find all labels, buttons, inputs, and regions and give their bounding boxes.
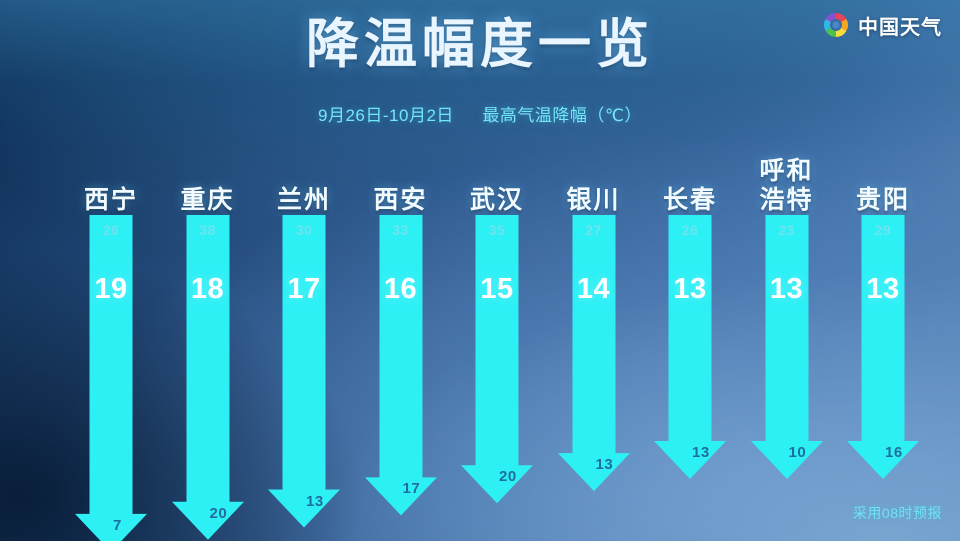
arrow-长春 xyxy=(642,215,738,479)
arrow-glyph-武汉 xyxy=(449,215,545,503)
city-label-西安: 西安 xyxy=(353,186,449,215)
value-after-贵阳: 16 xyxy=(885,444,903,461)
city-label-武汉: 武汉 xyxy=(449,186,545,215)
arrow-glyph-银川 xyxy=(546,215,642,491)
value-drop-重庆: 18 xyxy=(160,273,256,306)
arrow-西宁 xyxy=(63,215,159,541)
value-before-西安: 33 xyxy=(353,222,449,238)
city-label-贵阳: 贵阳 xyxy=(835,186,931,215)
city-label-呼和浩特: 呼和 浩特 xyxy=(739,157,835,215)
arrow-银川 xyxy=(546,215,642,491)
arrow-贵阳 xyxy=(835,215,931,479)
value-after-西宁: 7 xyxy=(113,517,122,534)
chart-column-西安: 西安331617 xyxy=(353,0,449,541)
arrow-glyph-兰州 xyxy=(256,215,352,528)
value-before-贵阳: 29 xyxy=(835,222,931,238)
arrow-武汉 xyxy=(449,215,545,503)
chart-column-长春: 长春261313 xyxy=(642,0,738,541)
chart-column-重庆: 重庆381820 xyxy=(160,0,256,541)
descent-arrow-chart: 西宁26197重庆381820兰州301713西安331617武汉351520银… xyxy=(0,0,960,541)
value-drop-西宁: 19 xyxy=(63,273,159,306)
page-title: 降温幅度一览 xyxy=(0,14,960,76)
value-before-兰州: 30 xyxy=(256,222,352,238)
city-label-重庆: 重庆 xyxy=(160,186,256,215)
chart-column-西宁: 西宁26197 xyxy=(63,0,159,541)
value-drop-武汉: 15 xyxy=(449,273,545,306)
value-after-武汉: 20 xyxy=(499,468,517,485)
subtitle-metric: 最高气温降幅（℃） xyxy=(482,106,642,125)
subtitle-date-range: 9月26日-10月2日 xyxy=(318,106,454,125)
city-label-西宁: 西宁 xyxy=(63,186,159,215)
footnote-label: 采用08时预报 xyxy=(853,503,942,523)
value-drop-长春: 13 xyxy=(642,273,738,306)
pinwheel-logo-icon xyxy=(821,10,851,40)
arrow-呼和浩特 xyxy=(739,215,835,479)
value-after-西安: 17 xyxy=(403,480,421,497)
chart-column-兰州: 兰州301713 xyxy=(256,0,352,541)
chart-column-贵阳: 贵阳291316 xyxy=(835,0,931,541)
value-before-长春: 26 xyxy=(642,222,738,238)
chart-column-呼和浩特: 呼和 浩特231310 xyxy=(739,0,835,541)
chart-column-银川: 银川271413 xyxy=(546,0,642,541)
value-after-重庆: 20 xyxy=(210,505,228,522)
arrow-glyph-长春 xyxy=(642,215,738,479)
city-label-银川: 银川 xyxy=(546,186,642,215)
chart-column-武汉: 武汉351520 xyxy=(449,0,545,541)
value-drop-兰州: 17 xyxy=(256,273,352,306)
value-after-长春: 13 xyxy=(692,444,710,461)
arrow-西安 xyxy=(353,215,449,515)
value-after-呼和浩特: 10 xyxy=(789,444,807,461)
value-before-武汉: 35 xyxy=(449,222,545,238)
arrow-glyph-西安 xyxy=(353,215,449,515)
brand-logo: 中国天气 xyxy=(821,10,942,40)
value-before-重庆: 38 xyxy=(160,222,256,238)
arrow-glyph-重庆 xyxy=(160,215,256,540)
arrow-glyph-西宁 xyxy=(63,215,159,541)
value-after-兰州: 13 xyxy=(306,493,324,510)
page-subtitle: 9月26日-10月2日 最高气温降幅（℃） xyxy=(0,104,960,128)
value-drop-银川: 14 xyxy=(546,273,642,306)
arrow-glyph-呼和浩特 xyxy=(739,215,835,479)
weather-infographic: 降温幅度一览 9月26日-10月2日 最高气温降幅（℃） 中国天气 西宁2619… xyxy=(0,0,960,541)
arrow-兰州 xyxy=(256,215,352,528)
brand-logo-text: 中国天气 xyxy=(858,11,942,40)
city-label-兰州: 兰州 xyxy=(256,186,352,215)
value-before-银川: 27 xyxy=(546,222,642,238)
value-before-呼和浩特: 23 xyxy=(739,222,835,238)
value-after-银川: 13 xyxy=(596,456,614,473)
value-drop-西安: 16 xyxy=(353,273,449,306)
city-label-长春: 长春 xyxy=(642,186,738,215)
value-drop-贵阳: 13 xyxy=(835,273,931,306)
arrow-重庆 xyxy=(160,215,256,540)
arrow-glyph-贵阳 xyxy=(835,215,931,479)
value-drop-呼和浩特: 13 xyxy=(739,273,835,306)
value-before-西宁: 26 xyxy=(63,222,159,238)
